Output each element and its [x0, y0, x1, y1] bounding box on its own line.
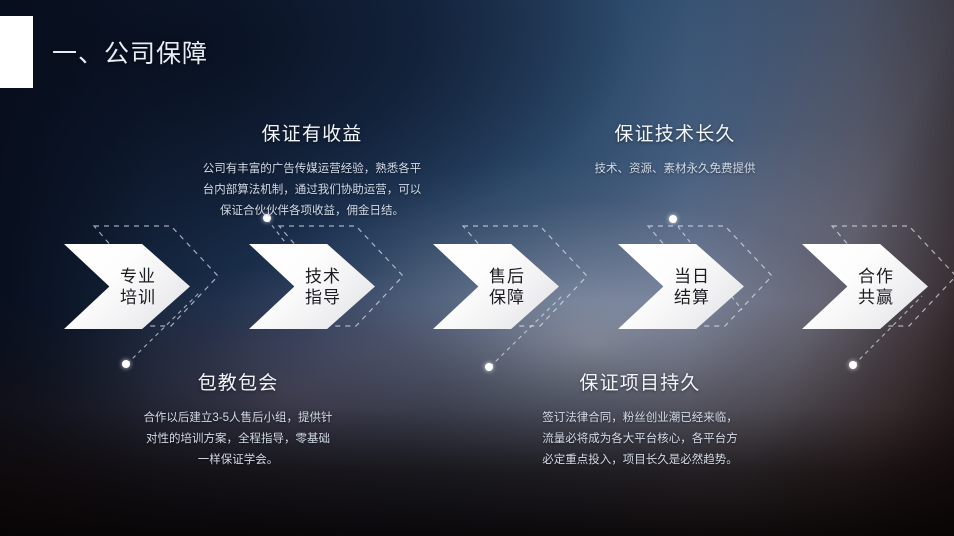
process-chevron-row: 专业 培训 技术 指导 售后 保障 — [0, 236, 954, 346]
chevron-label-line1: 专业 — [120, 266, 156, 287]
body-line: 一样保证学会。 — [108, 450, 368, 471]
chevron-label-line2: 结算 — [674, 287, 710, 308]
text-block-bottom-left: 包教包会 合作以后建立3-5人售后小组，提供针 对性的培训方案，全程指导，零基础… — [108, 368, 368, 471]
body-line: 保证合伙伙伴各项收益，佣金日结。 — [182, 201, 442, 222]
connector-dot-top-right — [669, 215, 677, 223]
chevron-step-4[interactable]: 当日 结算 — [618, 236, 763, 341]
text-block-top-left: 保证有收益 公司有丰富的广告传媒运营经验，熟悉各平 台内部算法机制，通过我们协助… — [182, 119, 442, 222]
body-line: 公司有丰富的广告传媒运营经验，熟悉各平 — [182, 159, 442, 180]
heading-bottom-right: 保证项目持久 — [500, 368, 780, 395]
body-line: 台内部算法机制，通过我们协助运营，可以 — [182, 180, 442, 201]
chevron-step-2[interactable]: 技术 指导 — [249, 236, 394, 341]
chevron-step-3[interactable]: 售后 保障 — [433, 236, 578, 341]
connector-dot-bottom-right — [849, 361, 857, 369]
chevron-label-4: 当日 结算 — [618, 244, 744, 329]
body-line: 合作以后建立3-5人售后小组，提供针 — [108, 408, 368, 429]
chevron-label-line2: 指导 — [305, 287, 341, 308]
chevron-label-line1: 当日 — [674, 266, 710, 287]
chevron-label-line2: 共赢 — [858, 287, 894, 308]
chevron-label-5: 合作 共赢 — [802, 244, 928, 329]
heading-top-left: 保证有收益 — [182, 119, 442, 146]
body-line: 对性的培训方案，全程指导，零基础 — [108, 429, 368, 450]
body-bottom-right: 签订法律合同，粉丝创业潮已经来临， 流量必将成为各大平台核心，各平台方 必定重点… — [500, 408, 780, 471]
chevron-label-line2: 培训 — [120, 287, 156, 308]
chevron-step-5[interactable]: 合作 共赢 — [802, 236, 947, 341]
slide-canvas: 一、公司保障 保证有收益 公司有丰富的广告传媒运营经验，熟悉各平 台内部算法机制… — [0, 0, 954, 536]
text-block-top-right: 保证技术长久 技术、资源、素材永久免费提供 — [545, 119, 805, 180]
chevron-label-line1: 售后 — [489, 266, 525, 287]
heading-top-right: 保证技术长久 — [545, 119, 805, 146]
body-bottom-left: 合作以后建立3-5人售后小组，提供针 对性的培训方案，全程指导，零基础 一样保证… — [108, 408, 368, 471]
chevron-label-line2: 保障 — [489, 287, 525, 308]
text-block-bottom-right: 保证项目持久 签订法律合同，粉丝创业潮已经来临， 流量必将成为各大平台核心，各平… — [500, 368, 780, 471]
chevron-label-line1: 技术 — [305, 266, 341, 287]
chevron-step-1[interactable]: 专业 培训 — [64, 236, 209, 341]
body-line: 技术、资源、素材永久免费提供 — [545, 159, 805, 180]
heading-bottom-left: 包教包会 — [108, 368, 368, 395]
body-line: 流量必将成为各大平台核心，各平台方 — [500, 429, 780, 450]
chevron-label-3: 售后 保障 — [433, 244, 559, 329]
connector-dot-bottom-mid — [485, 363, 493, 371]
body-line: 签订法律合同，粉丝创业潮已经来临， — [500, 408, 780, 429]
body-top-right: 技术、资源、素材永久免费提供 — [545, 159, 805, 180]
chevron-label-line1: 合作 — [858, 266, 894, 287]
body-line: 必定重点投入，项目长久是必然趋势。 — [500, 450, 780, 471]
connector-dot-bottom-left — [122, 360, 130, 368]
chevron-label-2: 技术 指导 — [249, 244, 375, 329]
chevron-label-1: 专业 培训 — [64, 244, 190, 329]
body-top-left: 公司有丰富的广告传媒运营经验，熟悉各平 台内部算法机制，通过我们协助运营，可以 … — [182, 159, 442, 222]
